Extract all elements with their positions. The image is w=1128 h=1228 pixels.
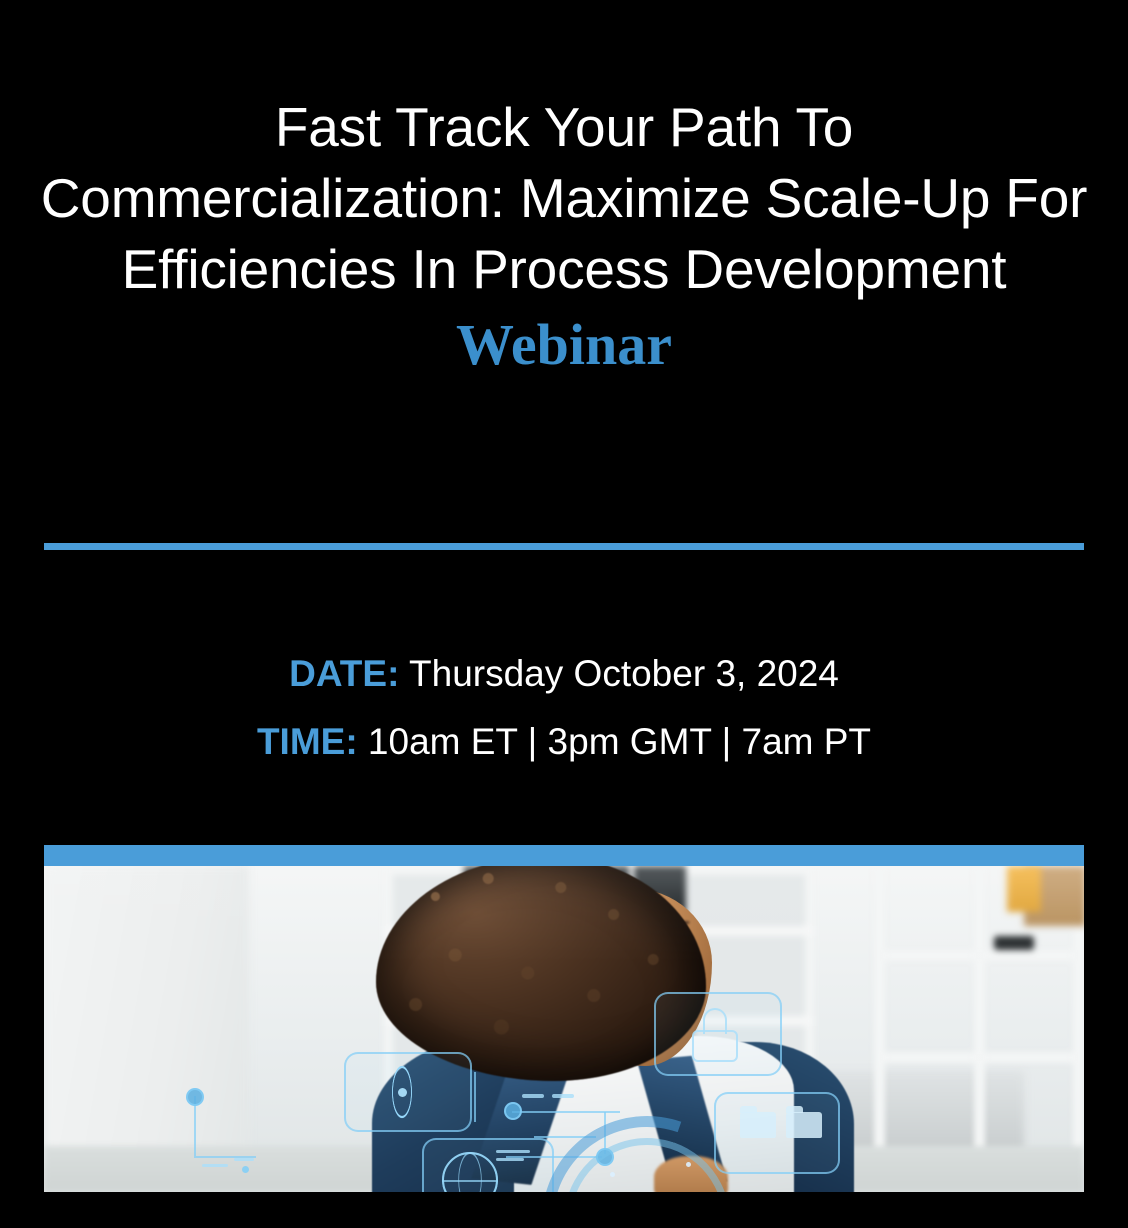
time-label: TIME:: [257, 721, 358, 762]
hero-media: [44, 845, 1084, 1192]
time-row: TIME: 10am ET | 3pm GMT | 7am PT: [0, 708, 1128, 776]
hero-photo: [44, 866, 1084, 1192]
event-details: DATE: Thursday October 3, 2024 TIME: 10a…: [0, 640, 1128, 776]
blue-divider-rule: [44, 543, 1084, 550]
page-title: Fast Track Your Path To Commercializatio…: [0, 92, 1128, 305]
date-row: DATE: Thursday October 3, 2024: [0, 640, 1128, 708]
photo-overlay-soft: [44, 866, 1084, 1192]
webinar-promo-page: Fast Track Your Path To Commercializatio…: [0, 0, 1128, 1228]
date-value: Thursday October 3, 2024: [409, 653, 839, 694]
media-top-accent-bar: [44, 845, 1084, 866]
time-value: 10am ET | 3pm GMT | 7am PT: [368, 721, 871, 762]
title-block: Fast Track Your Path To Commercializatio…: [0, 92, 1128, 376]
page-subtitle: Webinar: [0, 314, 1128, 376]
date-label: DATE:: [289, 653, 399, 694]
